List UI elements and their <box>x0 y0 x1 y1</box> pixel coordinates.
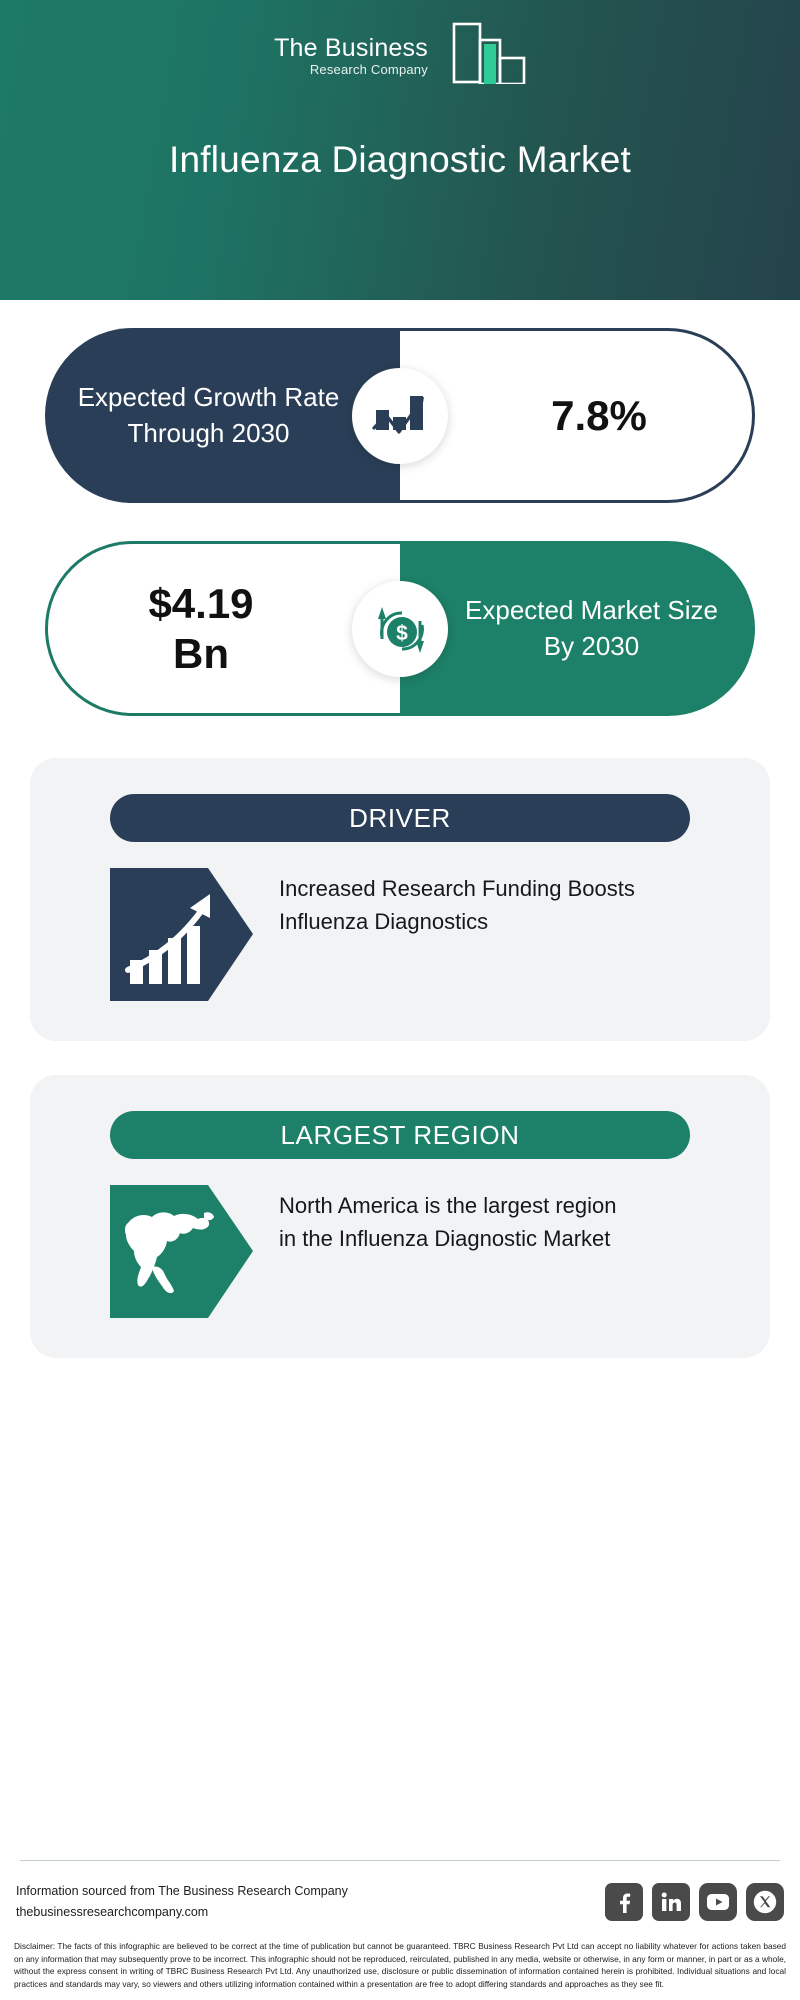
brand-logo: The Business Research Company <box>0 22 800 89</box>
header-banner: The Business Research Company Influenza … <box>0 0 800 300</box>
source-attribution: Information sourced from The Business Re… <box>16 1881 348 1925</box>
source-line-1: Information sourced from The Business Re… <box>16 1881 348 1903</box>
stat-value-text: 7.8% <box>505 391 647 441</box>
stat-label-panel: Expected Market Size By 2030 <box>400 541 755 716</box>
social-links <box>605 1883 784 1921</box>
footer-top-row: Information sourced from The Business Re… <box>0 1881 800 1925</box>
page-title: Influenza Diagnostic Market <box>0 138 800 182</box>
youtube-icon[interactable] <box>699 1883 737 1921</box>
logo-text: The Business Research Company <box>274 36 428 76</box>
stat-value-line2: Bn <box>173 630 229 677</box>
x-twitter-icon[interactable] <box>746 1883 784 1921</box>
facebook-icon[interactable] <box>605 1883 643 1921</box>
stat-label-text: Expected Market Size By 2030 <box>400 593 755 665</box>
growth-chart-icon <box>352 368 448 464</box>
source-line-2[interactable]: thebusinessresearchcompany.com <box>16 1902 348 1924</box>
stat-cards-band: Expected Growth Rate Through 2030 7.8% $… <box>0 300 800 716</box>
section-heading-pill: DRIVER <box>110 794 690 842</box>
stat-label-panel: Expected Growth Rate Through 2030 <box>45 328 400 503</box>
section-text: Increased Research Funding Boosts Influe… <box>279 868 639 938</box>
section-heading-text: LARGEST REGION <box>280 1120 519 1151</box>
section-heading-text: DRIVER <box>349 803 451 834</box>
section-text: North America is the largest region in t… <box>279 1185 639 1255</box>
north-america-map-icon <box>110 1185 253 1318</box>
section-driver: DRIVER Increased Research Funding Boosts… <box>30 758 770 1041</box>
dollar-cycle-icon: $ <box>352 581 448 677</box>
logo-primary-text: The Business <box>274 36 428 61</box>
linkedin-icon[interactable] <box>652 1883 690 1921</box>
disclaimer-text: Disclaimer: The facts of this infographi… <box>0 1940 800 2000</box>
section-largest-region: LARGEST REGION North America is the larg… <box>30 1075 770 1358</box>
info-sections: DRIVER Increased Research Funding Boosts… <box>0 758 800 1358</box>
section-body: Increased Research Funding Boosts Influe… <box>30 868 770 1001</box>
svg-text:$: $ <box>396 622 408 645</box>
stat-value-panel: 7.8% <box>400 328 755 503</box>
section-body: North America is the largest region in t… <box>30 1185 770 1318</box>
logo-bars-icon <box>434 22 526 89</box>
footer-divider <box>20 1860 780 1861</box>
stat-card-market-size: $4.19 Bn Expected Market Size By 2030 $ <box>45 541 755 716</box>
stat-card-growth-rate: Expected Growth Rate Through 2030 7.8% <box>45 328 755 503</box>
stat-value-panel: $4.19 Bn <box>45 541 400 716</box>
logo-secondary-text: Research Company <box>274 63 428 76</box>
stat-value-text: $4.19 Bn <box>148 579 299 678</box>
section-heading-pill: LARGEST REGION <box>110 1111 690 1159</box>
footer: Information sourced from The Business Re… <box>0 1848 800 2000</box>
stat-label-text: Expected Growth Rate Through 2030 <box>45 380 400 452</box>
stat-value-line1: $4.19 <box>148 580 253 627</box>
bar-chart-arrow-icon <box>110 868 253 1001</box>
